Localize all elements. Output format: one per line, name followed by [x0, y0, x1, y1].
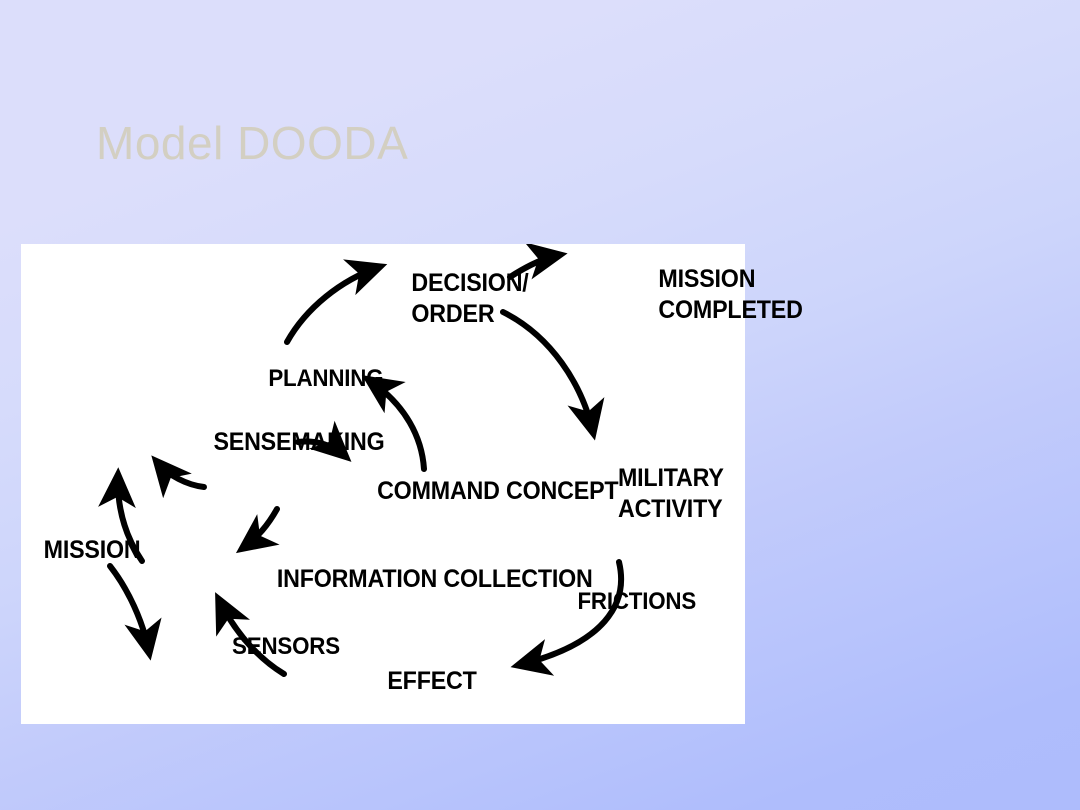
node-label-command-concept: COMMAND CONCEPT: [377, 476, 618, 507]
node-label-military-activity-line1: MILITARY: [618, 463, 724, 494]
node-label-planning: PLANNING: [268, 364, 383, 393]
arrow-decision-order-to-military-activity: [503, 312, 593, 432]
node-label-effect: EFFECT: [387, 666, 476, 697]
node-label-mission-completed-line1: MISSION: [658, 264, 802, 295]
node-label-decision-order-line1: DECISION/: [411, 268, 528, 299]
node-label-mission: MISSION: [44, 535, 141, 566]
node-label-military-activity-line2: ACTIVITY: [618, 494, 724, 525]
node-label-military-activity: MILITARY ACTIVITY: [618, 463, 724, 524]
arrow-planning-to-decision-order: [287, 267, 379, 342]
slide-canvas: Model DOODA: [0, 0, 1080, 810]
page-title: Model DOODA: [96, 116, 408, 171]
node-label-information-collection: INFORMATION COLLECTION: [277, 564, 593, 595]
node-label-decision-order-line2: ORDER: [411, 299, 528, 330]
node-label-sensemaking: SENSEMAKING: [213, 427, 384, 458]
node-label-sensors: SENSORS: [232, 632, 340, 661]
node-label-mission-completed-line2: COMPLETED: [658, 295, 802, 326]
node-label-mission-completed: MISSION COMPLETED: [658, 264, 802, 325]
arrow-command-concept-to-information-collection: [243, 509, 277, 548]
node-label-frictions: FRICTIONS: [577, 587, 696, 616]
dooda-diagram-image: MISSION DECISION/ ORDER MISSION COMPLETE…: [21, 244, 745, 724]
arrow-mission-to-sensemaking: [110, 566, 149, 652]
arrow-command-concept-to-sensemaking: [157, 462, 204, 487]
node-label-decision-order: DECISION/ ORDER: [411, 268, 528, 329]
